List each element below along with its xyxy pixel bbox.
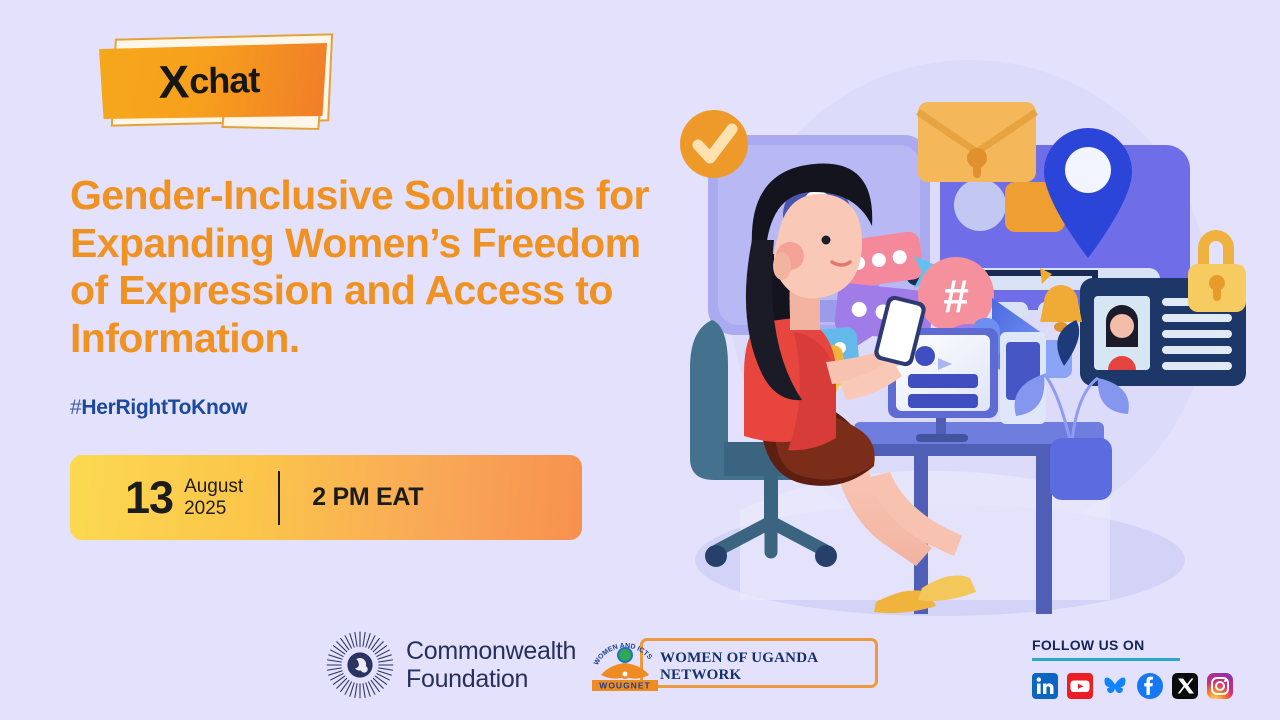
- campaign-hashtag: #HerRightToKnow: [70, 396, 247, 420]
- event-day: 13: [125, 475, 173, 520]
- instagram-icon[interactable]: [1207, 673, 1233, 699]
- page-title: Gender-Inclusive Solutions for Expanding…: [70, 172, 680, 362]
- bluesky-icon[interactable]: [1102, 673, 1128, 699]
- hashtag-label: HerRightToKnow: [81, 396, 247, 419]
- event-datetime-banner: 13 August 2025 2 PM EAT: [70, 455, 582, 540]
- facebook-icon[interactable]: [1137, 673, 1163, 699]
- commonwealth-foundation-wordmark: Commonwealth Foundation: [406, 637, 576, 693]
- hero-illustration: 2 #: [640, 40, 1260, 640]
- x-twitter-icon[interactable]: [1172, 673, 1198, 699]
- follow-us-section: FOLLOW US ON: [1032, 637, 1233, 699]
- banner-divider: [278, 471, 280, 525]
- event-month: August: [184, 476, 243, 497]
- logo-letter-x: X: [158, 58, 188, 105]
- commonwealth-foundation-logo: Commonwealth Foundation: [325, 630, 576, 700]
- ear: [773, 252, 791, 280]
- sunburst-globe-icon: [325, 630, 395, 700]
- wougnet-logo: WOMEN AND ICTS WOUGNET WOMEN OF UGANDA N…: [588, 636, 880, 692]
- hash-symbol: #: [70, 396, 81, 419]
- social-icons-row: [1032, 673, 1233, 699]
- xchat-logo: X chat: [95, 33, 345, 138]
- locked-envelope-icon: [918, 102, 1036, 182]
- wougnet-emblem-icon: WOMEN AND ICTS WOUGNET: [588, 636, 662, 692]
- linkedin-icon[interactable]: [1032, 673, 1058, 699]
- wougnet-banner-text: WOUGNET: [599, 681, 650, 691]
- cwf-line-1: Commonwealth: [406, 637, 576, 665]
- follow-us-underline: [1032, 658, 1180, 661]
- cwf-line-2: Foundation: [406, 665, 576, 693]
- event-time: 2 PM EAT: [312, 483, 423, 512]
- event-month-year: August 2025: [184, 476, 243, 519]
- youtube-icon[interactable]: [1067, 673, 1093, 699]
- poster-canvas: X chat Gender-Inclusive Solutions for Ex…: [0, 0, 1280, 720]
- logo-wordmark: X chat: [94, 41, 323, 121]
- verified-check-badge: [680, 110, 748, 178]
- follow-us-label: FOLLOW US ON: [1032, 637, 1233, 653]
- logo-word-chat: chat: [189, 62, 260, 99]
- svg-text:#: #: [943, 270, 969, 322]
- eye: [822, 236, 831, 245]
- wougnet-full-name: WOMEN OF UGANDA NETWORK: [660, 650, 880, 684]
- event-year: 2025: [184, 498, 243, 519]
